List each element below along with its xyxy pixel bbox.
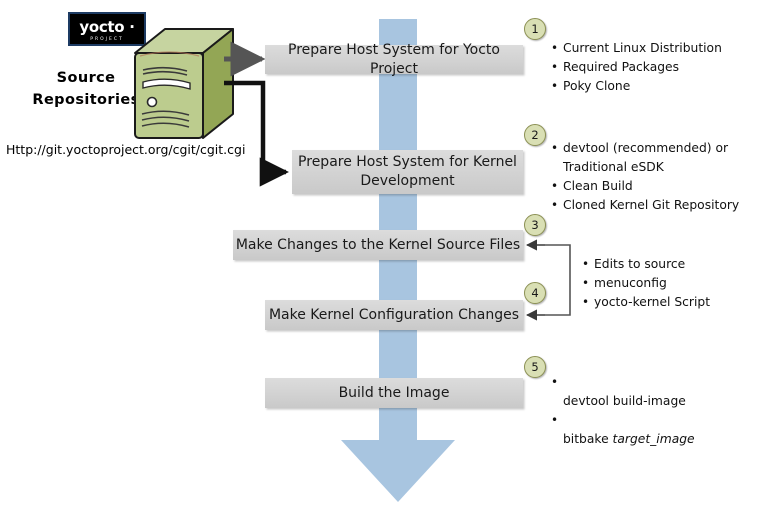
step-2-notes: devtool (recommended) or Traditional eSD… [551, 139, 766, 215]
list-item: Required Packages [551, 58, 766, 77]
list-item: Poky Clone [551, 77, 766, 96]
step-box-4[interactable]: Make Kernel Configuration Changes [265, 300, 523, 330]
step-box-5[interactable]: Build the Image [265, 378, 523, 408]
step-number-2: 2 [524, 124, 546, 146]
step-number-5: 5 [524, 356, 546, 378]
list-item: bitbake target_image [551, 411, 766, 449]
list-item: devtool build-image [551, 373, 766, 411]
step-box-3[interactable]: Make Changes to the Kernel Source Files [233, 230, 523, 260]
diagram-canvas: yocto · PROJECT Source Repositories Http… [0, 0, 769, 517]
step-box-2[interactable]: Prepare Host System for Kernel Developme… [292, 150, 523, 194]
list-item: Current Linux Distribution [551, 39, 766, 58]
note-text-italic: target_image [613, 432, 695, 446]
list-item: devtool (recommended) or Traditional eSD… [551, 139, 766, 177]
list-item: menuconfig [582, 274, 767, 293]
note-text: bitbake [563, 432, 613, 446]
note-text: devtool build-image [563, 394, 686, 408]
step-1-notes: Current Linux Distribution Required Pack… [551, 39, 766, 96]
step-5-notes: devtool build-image bitbake target_image [551, 373, 766, 449]
step-3-notes: Edits to source menuconfig yocto-kernel … [582, 255, 767, 312]
step-number-1: 1 [524, 18, 546, 40]
bracket-step3-step4 [533, 245, 570, 315]
step-number-4: 4 [524, 282, 546, 304]
list-item: Edits to source [582, 255, 767, 274]
list-item: Clean Build [551, 177, 766, 196]
step-box-1[interactable]: Prepare Host System for Yocto Project [265, 45, 523, 74]
step-number-3: 3 [524, 214, 546, 236]
list-item: Cloned Kernel Git Repository [551, 196, 766, 215]
list-item: yocto-kernel Script [582, 293, 767, 312]
arrow-server-to-step2 [224, 83, 286, 172]
